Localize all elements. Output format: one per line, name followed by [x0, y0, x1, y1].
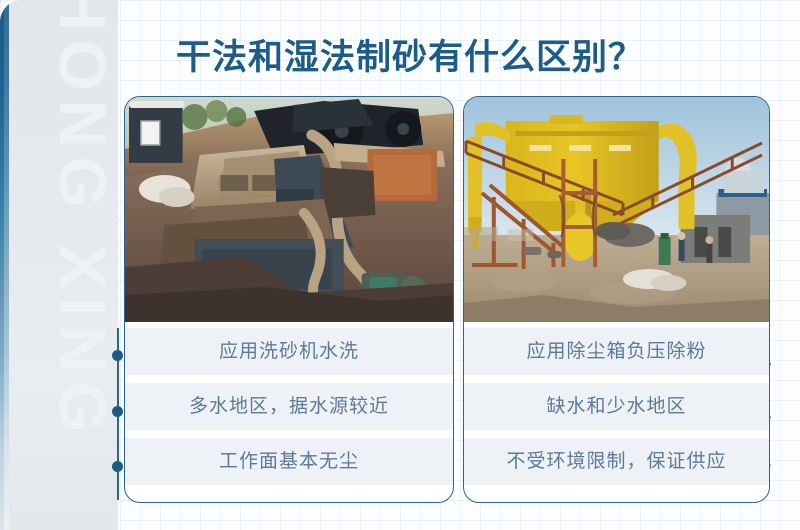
card-dry-process[interactable]: 应用除尘箱负压除粉 缺水和少水地区 不受环境限制，保证供应: [463, 96, 770, 503]
sidebar-accent-bar: [0, 0, 9, 530]
page-title: 干法和湿法制砂有什么区别？: [176, 29, 644, 80]
sidebar-panel: HONG XING: [0, 0, 118, 530]
wet-row-applicable-site: 多水地区，据水源较近: [125, 383, 453, 430]
brand-watermark: HONG XING: [41, 0, 118, 453]
photo-dry-dust-collector: [464, 97, 769, 322]
dry-row-working-principle: 应用除尘箱负压除粉: [464, 328, 769, 375]
wet-row-working-principle: 应用洗砂机水洗: [125, 328, 453, 375]
dry-row-applicable-site: 缺水和少水地区: [464, 383, 769, 430]
wet-row-working-advantage: 工作面基本无尘: [125, 438, 453, 485]
photo-wet-sand-washing: [125, 97, 453, 322]
bullet-dot-applicable-site: [112, 406, 123, 417]
dry-row-working-advantage: 不受环境限制，保证供应: [464, 438, 769, 485]
infographic-canvas: HONG XING 干法和湿法制砂有什么区别？ 工作原理 适用场地 工作优势: [0, 0, 800, 530]
wet-rows: 应用洗砂机水洗 多水地区，据水源较近 工作面基本无尘: [125, 322, 453, 485]
card-wet-process[interactable]: 应用洗砂机水洗 多水地区，据水源较近 工作面基本无尘: [124, 96, 454, 503]
dry-rows: 应用除尘箱负压除粉 缺水和少水地区 不受环境限制，保证供应: [464, 322, 769, 485]
bullet-dot-working-principle: [112, 350, 123, 361]
bullet-dot-working-advantage: [112, 461, 123, 472]
